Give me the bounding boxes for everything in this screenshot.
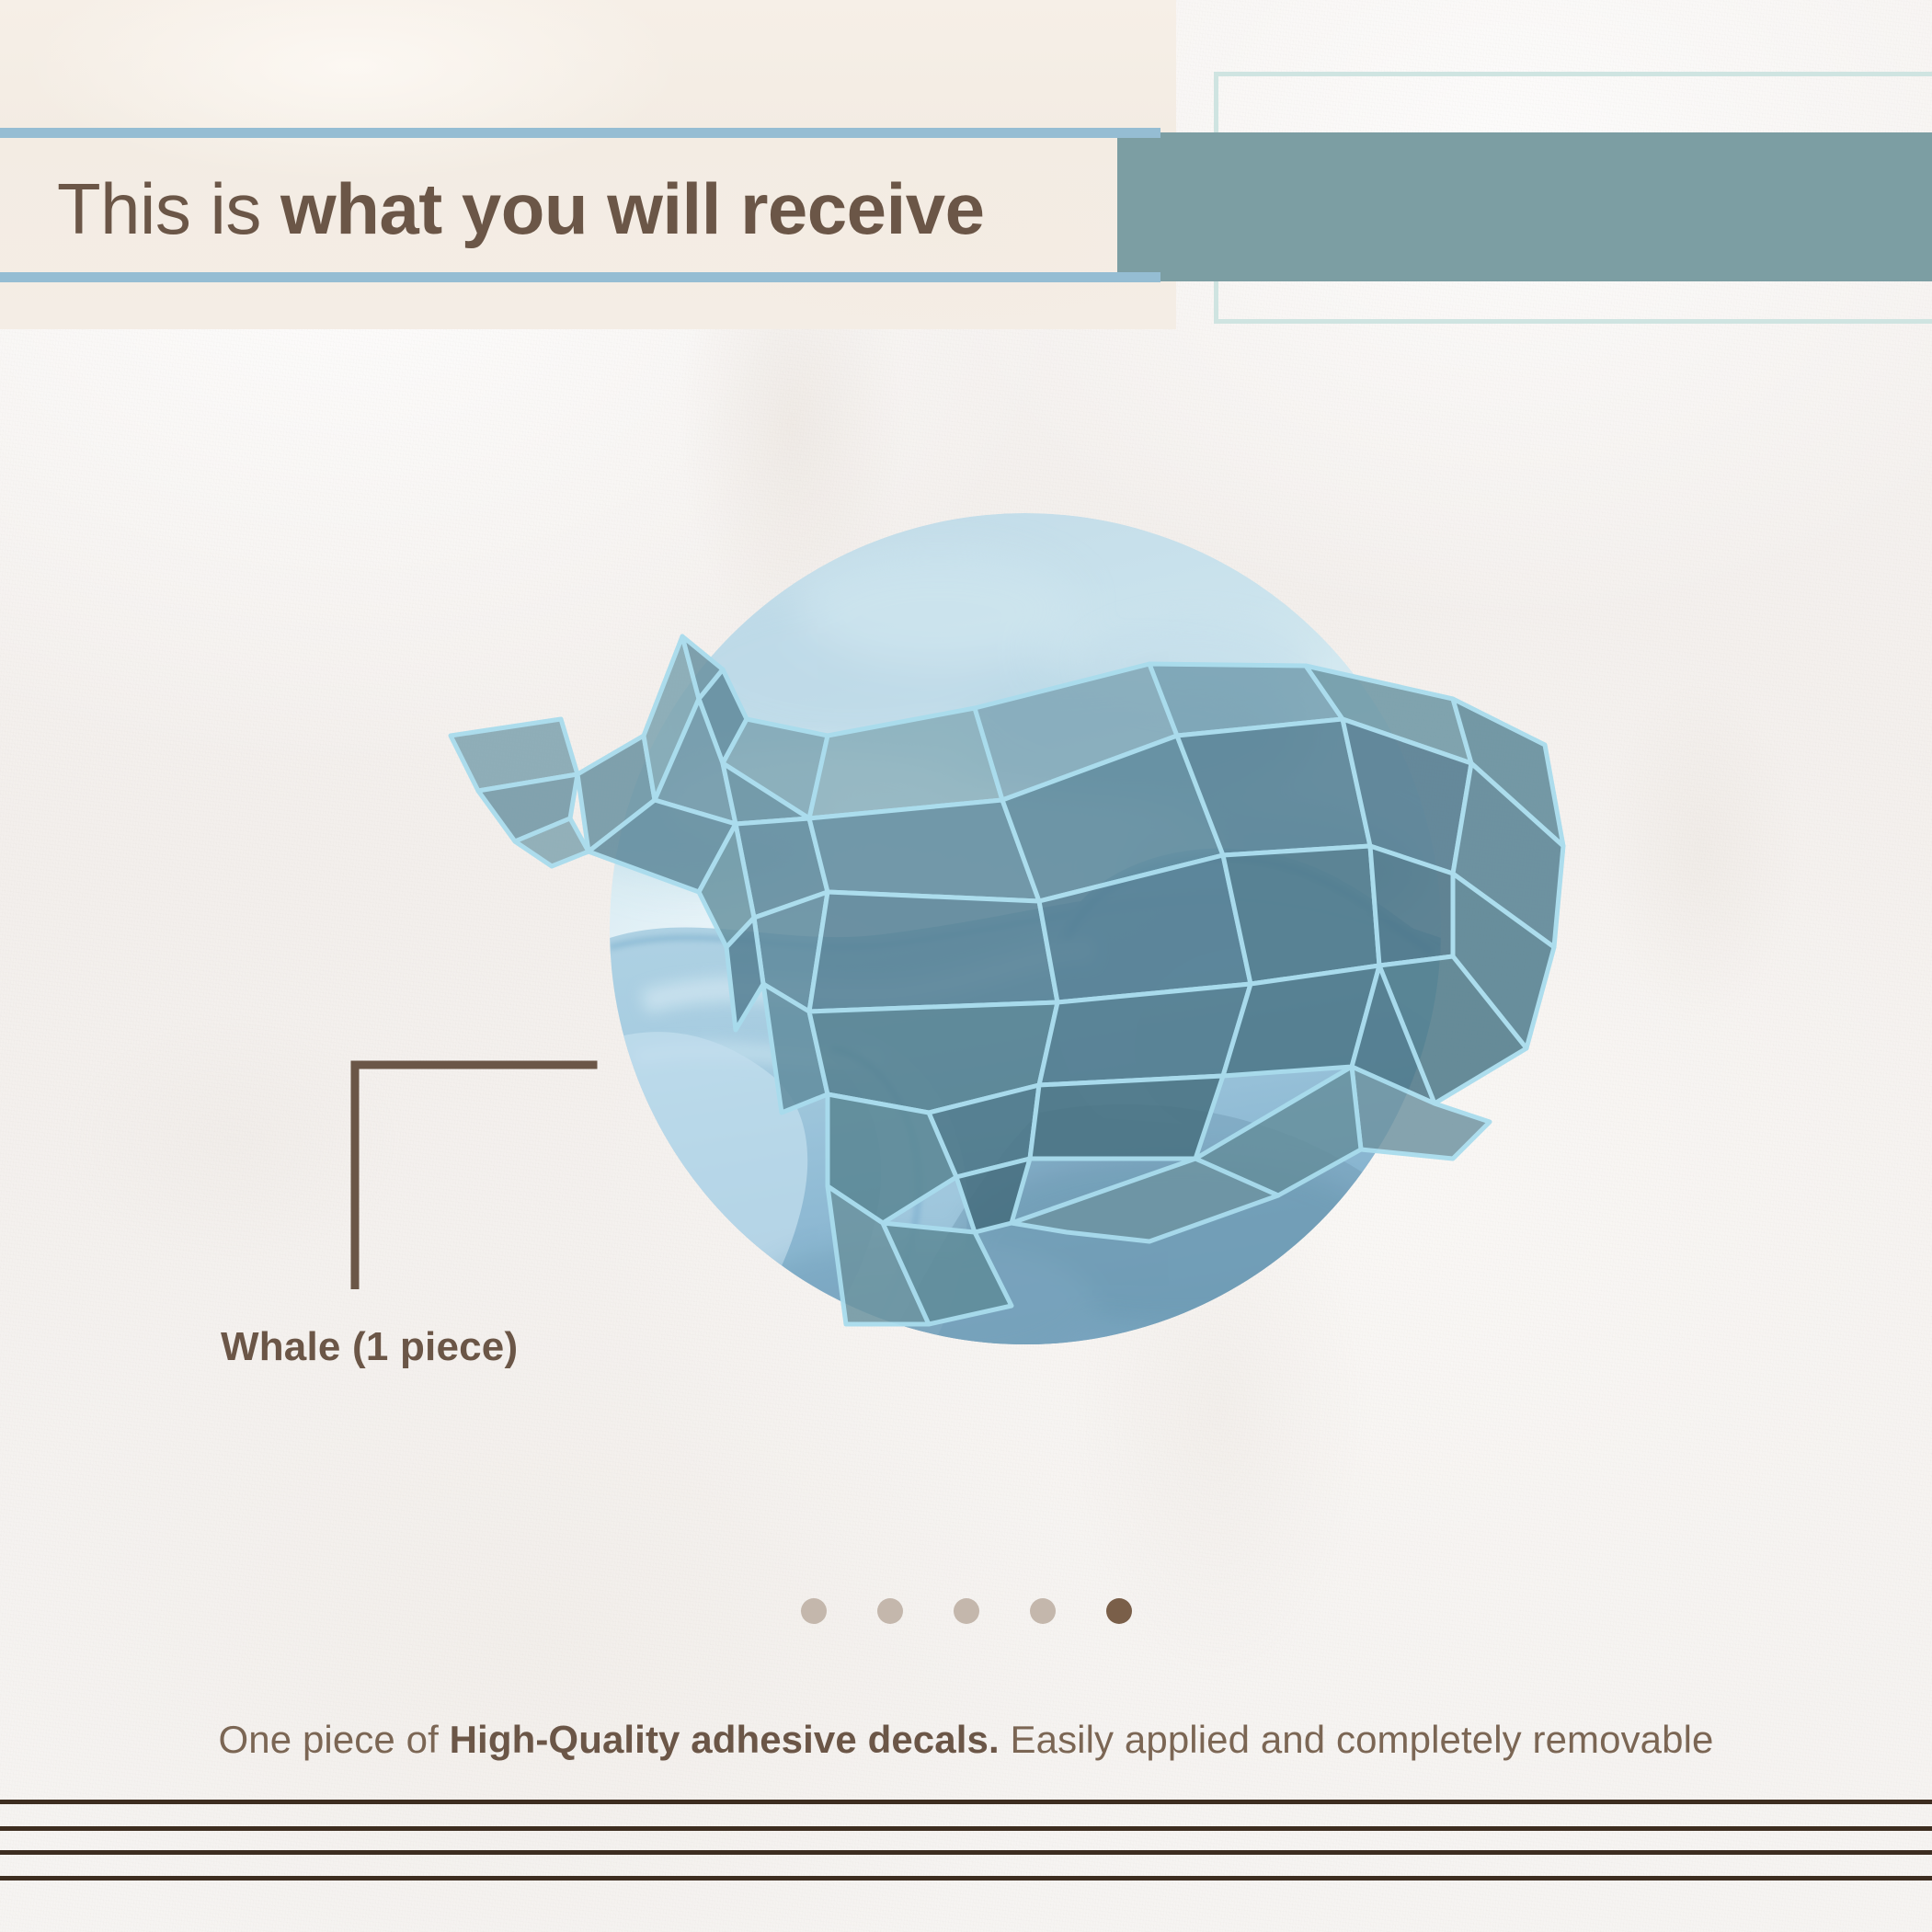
header-top-rule [0, 128, 1160, 138]
header-teal-block [1117, 132, 1932, 281]
footer-caption: One piece of High-Quality adhesive decal… [0, 1718, 1932, 1762]
carousel-dot-5[interactable] [1106, 1598, 1132, 1624]
carousel-dot-3[interactable] [954, 1598, 979, 1624]
footer-rule-3 [0, 1850, 1932, 1855]
callout-leader-line [349, 1059, 598, 1289]
footer-rule-2 [0, 1826, 1932, 1831]
page-title-bold: what you will receive [280, 168, 984, 249]
carousel-dot-4[interactable] [1030, 1598, 1056, 1624]
caption-lead: One piece of [218, 1718, 449, 1761]
header-banner: This is what you will receive [0, 0, 1932, 331]
footer-rule-4 [0, 1876, 1932, 1881]
carousel-dot-2[interactable] [877, 1598, 903, 1624]
carousel-dot-1[interactable] [801, 1598, 827, 1624]
page-title-regular: This is [57, 168, 280, 249]
carousel-dots[interactable] [0, 1598, 1932, 1624]
caption-tail: Easily applied and completely removable [1000, 1718, 1714, 1761]
caption-bold: High-Quality adhesive decals. [450, 1718, 1000, 1761]
callout-label: Whale (1 piece) [221, 1324, 518, 1370]
page-title: This is what you will receive [57, 140, 985, 278]
footer-rule-1 [0, 1800, 1932, 1804]
